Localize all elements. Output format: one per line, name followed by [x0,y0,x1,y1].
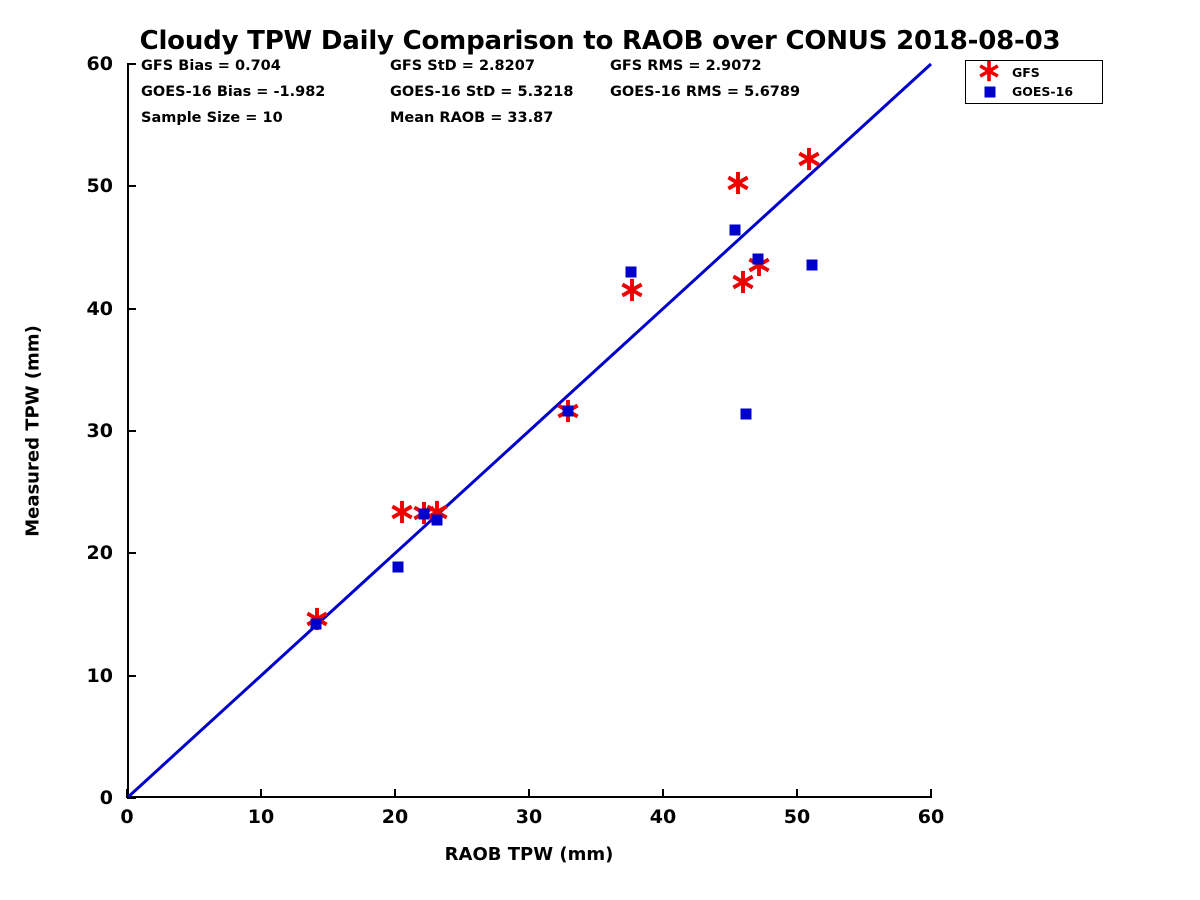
data-point-goes-16 [806,259,817,270]
y-tick-label: 40 [87,298,113,320]
data-point-gfs [726,171,750,195]
x-tick [930,789,932,798]
y-tick-label: 0 [100,787,113,809]
reference-line-1to1 [127,64,931,798]
data-point-goes-16 [431,515,442,526]
data-point-goes-16 [419,509,430,520]
page-title: Cloudy TPW Daily Comparison to RAOB over… [0,26,1200,56]
x-tick [394,789,396,798]
x-tick [260,789,262,798]
data-point-goes-16 [625,266,636,277]
y-tick-label: 60 [87,53,113,75]
y-axis-label: Measured TPW (mm) [23,325,44,537]
data-point-goes-16 [730,225,741,236]
asterisk-icon [968,63,1012,82]
x-tick-label: 20 [382,806,408,828]
x-tick-label: 0 [120,806,133,828]
data-point-gfs [797,147,821,171]
x-tick-label: 10 [248,806,274,828]
legend-label: GOES-16 [1012,84,1073,99]
data-point-gfs [390,500,414,524]
x-tick [528,789,530,798]
y-tick [127,63,136,65]
y-tick [127,675,136,677]
data-point-goes-16 [310,619,321,630]
chart-page: Cloudy TPW Daily Comparison to RAOB over… [0,0,1200,900]
data-point-gfs [620,278,644,302]
y-tick [127,430,136,432]
legend-entry-goes-16[interactable]: GOES-16 [968,82,1073,101]
y-tick [127,185,136,187]
x-tick-label: 50 [784,806,810,828]
y-tick [127,552,136,554]
legend-entry-gfs[interactable]: GFS [968,63,1040,82]
legend-label: GFS [1012,65,1040,80]
data-point-goes-16 [562,406,573,417]
x-axis-label: RAOB TPW (mm) [127,844,931,865]
x-tick [662,789,664,798]
chart-legend: GFSGOES-16 [965,60,1103,104]
x-tick-label: 60 [918,806,944,828]
y-tick-label: 20 [87,542,113,564]
square-icon [985,87,996,98]
square-icon [968,82,1012,101]
x-tick-label: 40 [650,806,676,828]
x-tick-label: 30 [516,806,542,828]
x-tick [796,789,798,798]
plot-area: 0102030405060 0102030405060 RAOB TPW (mm… [127,64,931,798]
data-point-goes-16 [753,253,764,264]
y-tick [127,797,136,799]
y-tick-label: 50 [87,175,113,197]
y-tick [127,308,136,310]
data-point-goes-16 [741,408,752,419]
data-point-goes-16 [392,561,403,572]
y-tick-label: 30 [87,420,113,442]
y-tick-label: 10 [87,665,113,687]
asterisk-icon [978,60,1002,84]
